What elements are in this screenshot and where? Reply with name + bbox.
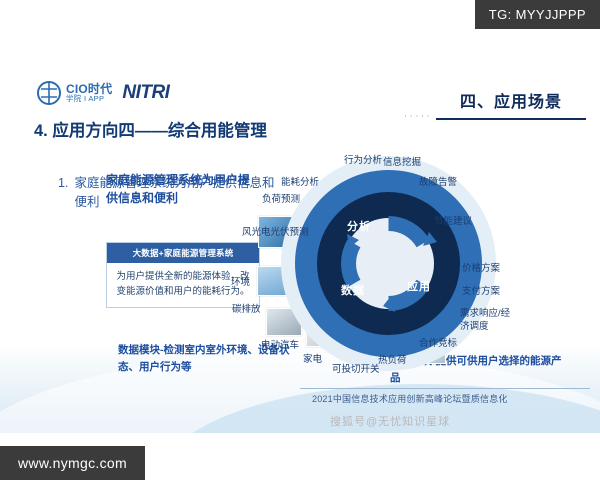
bigdata-box-header: 大数据+家庭能源管理系统 [107, 243, 259, 263]
label-thermal-load: 热负荷 [378, 352, 407, 366]
section-header-text: 四、应用场景 [436, 88, 586, 112]
footer-divider [300, 388, 590, 389]
label-payment-plan: 支付方案 [462, 283, 500, 297]
site-watermark-tag: www.nymgc.com [0, 446, 145, 480]
label-behavior-analysis: 行为分析 [344, 152, 382, 166]
label-price-plan: 价格方案 [462, 260, 500, 274]
nitri-logo: NITRI [122, 82, 169, 104]
section-header-rule [436, 118, 586, 120]
cio-logo-line2: 学院 I APP [66, 95, 112, 103]
label-fault-alarm: 故障告警 [419, 174, 457, 188]
cio-logo: CIO时代 学院 I APP [36, 80, 112, 106]
logo-group: CIO时代 学院 I APP NITRI [36, 80, 169, 106]
cio-logo-text: CIO时代 学院 I APP [66, 83, 112, 103]
label-appliance: 家电 [303, 351, 322, 365]
label-cooperative-bidding: 合作竞标 [419, 335, 457, 349]
section-header: 四、应用场景 [436, 88, 586, 120]
header-dots: ····· [404, 110, 432, 122]
presentation-slide: CIO时代 学院 I APP NITRI ····· 四、应用场景 4. 应用方… [0, 8, 600, 433]
label-load-forecast: 负荷预测 [262, 191, 300, 205]
subtitle-number: 1. [58, 174, 68, 212]
label-energy-saving-advice: 节能建议 [434, 213, 472, 227]
label-energy-analysis: 能耗分析 [281, 174, 319, 188]
footer-note: 2021中国信息技术应用创新高峰论坛暨质信息化 [312, 392, 508, 405]
label-ev: 电动汽车 [261, 337, 299, 351]
label-environment: 环境 [231, 274, 250, 288]
callout-overlay-text: 家庭能源管理系统为用户提供信息和便利 [106, 171, 256, 207]
diagram-label-analysis: 分析 [347, 218, 371, 234]
diagram-label-apply: 应用 [407, 278, 431, 294]
center-watermark: 搜狐号@无忧知识星球 [330, 413, 450, 429]
label-info-mining: 信息挖掘 [383, 154, 421, 168]
label-switchable: 可投切开关 [332, 361, 380, 375]
slide-title: 4. 应用方向四——综合用能管理 [34, 120, 294, 144]
label-pv-forecast: 风光电光伏预测 [242, 224, 309, 238]
diagram-label-data: 数据 [341, 282, 365, 298]
screenshot-root: CIO时代 学院 I APP NITRI ····· 四、应用场景 4. 应用方… [0, 0, 600, 480]
cio-emblem-icon [36, 80, 62, 106]
label-carbon-emission: 碳排放 [232, 301, 261, 315]
nitri-logo-text: NITRI [122, 82, 169, 104]
label-demand-response: 需求响应/经济调度 [460, 307, 516, 334]
tg-watermark-tag: TG: MYYJJPPP [475, 0, 600, 29]
